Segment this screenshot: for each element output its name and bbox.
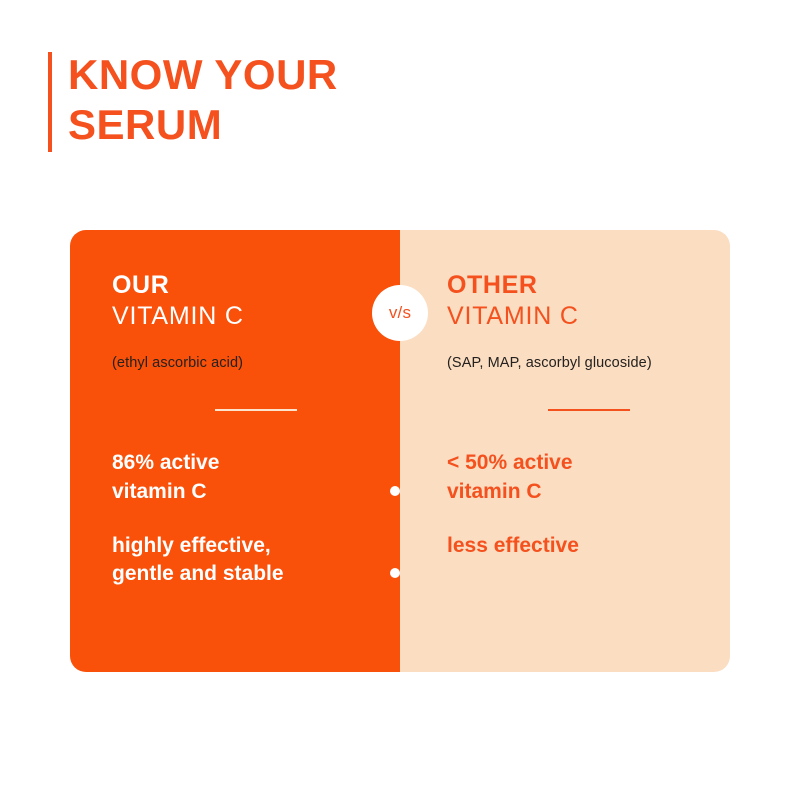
left-panel-caption: (ethyl ascorbic acid) (112, 355, 400, 371)
left-panel-title-light: VITAMIN C (112, 300, 400, 334)
panel-our-vitamin-c: OUR VITAMIN C (ethyl ascorbic acid) 86% … (70, 230, 400, 672)
right-panel-bullet-list: < 50% active vitamin C less effective (447, 449, 730, 560)
left-panel-bullet-item: 86% active vitamin C (112, 449, 400, 506)
left-panel-divider-rule (215, 409, 297, 411)
right-panel-divider-rule (548, 409, 630, 411)
versus-badge: v/s (372, 285, 428, 341)
left-panel-bullet-item: highly effective, gentle and stable (112, 532, 400, 589)
right-panel-title-strong: OTHER (447, 272, 730, 300)
comparison-card: OUR VITAMIN C (ethyl ascorbic acid) 86% … (70, 230, 730, 672)
page-heading: Know Your Serum (48, 50, 338, 152)
right-panel-caption: (SAP, MAP, ascorbyl glucoside) (447, 355, 730, 371)
panel-other-vitamin-c: OTHER VITAMIN C (SAP, MAP, ascorbyl gluc… (400, 230, 730, 672)
right-panel-bullet-item: < 50% active vitamin C (447, 449, 730, 506)
heading-accent-bar (48, 52, 52, 152)
bullet-dot-icon (390, 486, 400, 496)
right-panel-title-light: VITAMIN C (447, 300, 730, 334)
left-panel-title-strong: OUR (112, 272, 400, 300)
page-title: Know Your Serum (68, 50, 338, 149)
bullet-dot-icon (390, 568, 400, 578)
right-panel-bullet-item: less effective (447, 532, 730, 560)
left-panel-bullet-list: 86% active vitamin C highly effective, g… (112, 449, 400, 588)
